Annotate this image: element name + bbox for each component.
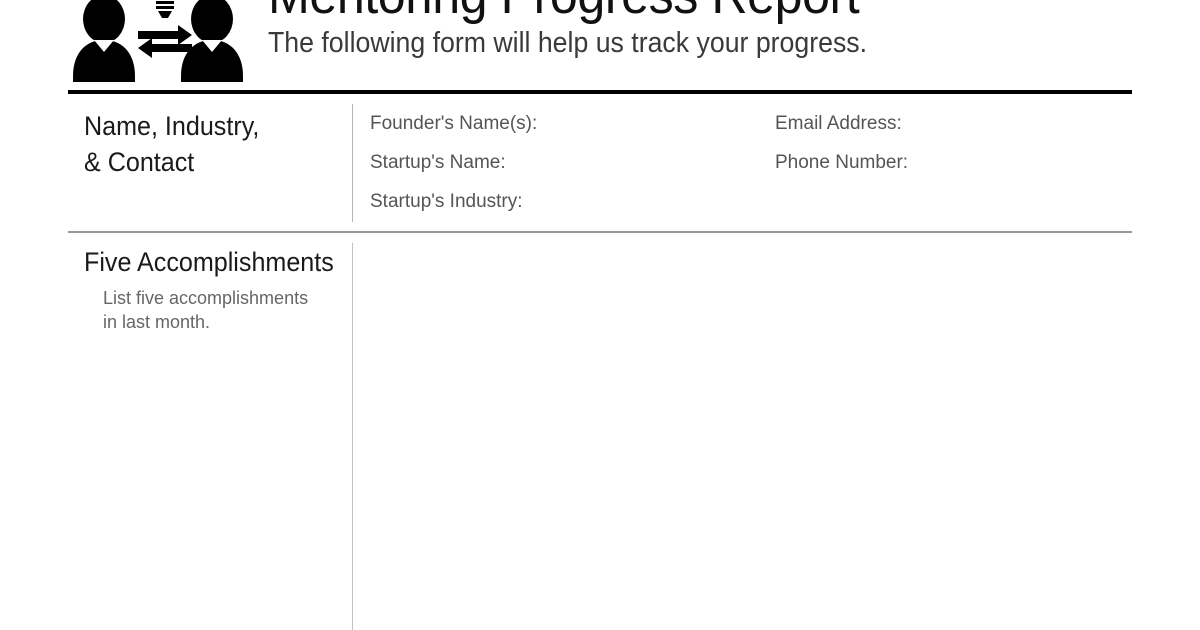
section-contact-vertical-divider <box>352 104 353 222</box>
field-startup-name[interactable]: Startup's Name: <box>370 143 750 182</box>
section-five-accomplishments: Five Accomplishments List five accomplis… <box>0 234 1200 630</box>
section-name-industry-contact: Name, Industry, & Contact Founder's Name… <box>0 96 1200 230</box>
accomplishments-description-line2: in last month. <box>103 310 343 334</box>
field-startup-industry[interactable]: Startup's Industry: <box>370 182 750 221</box>
page-subtitle: The following form will help us track yo… <box>268 26 1096 60</box>
title-block: Mentoring Progress Report The following … <box>268 0 1168 60</box>
section-contact-label: Name, Industry, & Contact <box>84 108 317 180</box>
section-accomplishments-vertical-divider <box>352 243 353 630</box>
section-divider-thin <box>68 231 1132 233</box>
mentoring-progress-report-page: Mentoring Progress Report The following … <box>0 0 1200 630</box>
accomplishments-description-line1: List five accomplishments <box>103 286 343 310</box>
field-founders-name[interactable]: Founder's Name(s): <box>370 104 750 143</box>
field-phone-number[interactable]: Phone Number: <box>775 143 1155 182</box>
section-contact-label-line1: Name, Industry, <box>84 108 317 144</box>
header-divider-thick <box>68 89 1132 94</box>
document-header: Mentoring Progress Report The following … <box>0 0 1200 92</box>
section-contact-label-line2: & Contact <box>84 144 317 180</box>
accomplishments-answer-area[interactable] <box>370 243 1132 630</box>
contact-fields-right-column: Email Address: Phone Number: <box>775 104 1155 182</box>
field-email-address[interactable]: Email Address: <box>775 104 1155 143</box>
section-accomplishments-description: List five accomplishments in last month. <box>103 286 343 334</box>
page-title: Mentoring Progress Report <box>268 0 1105 24</box>
contact-fields-left-column: Founder's Name(s): Startup's Name: Start… <box>370 104 750 221</box>
section-accomplishments-heading: Five Accomplishments <box>84 246 334 278</box>
mentoring-people-lightbulb-icon <box>72 0 244 82</box>
